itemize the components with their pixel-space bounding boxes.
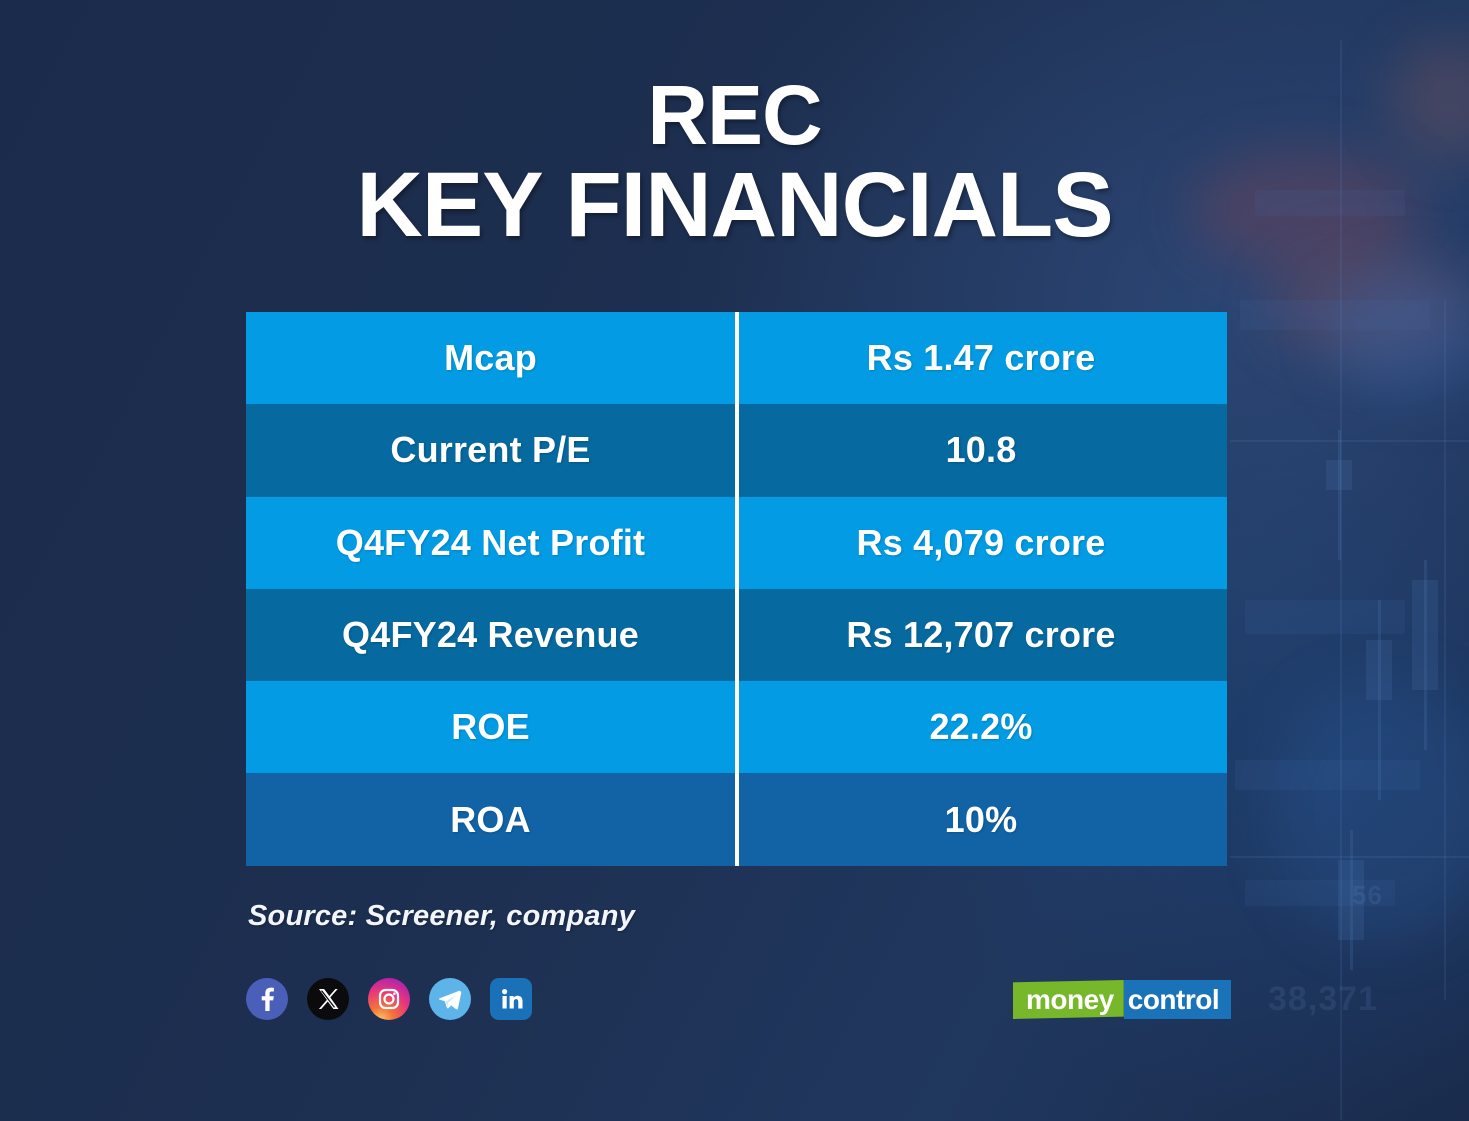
background-candle-wick-3 <box>1378 600 1381 800</box>
metric-label: Q4FY24 Net Profit <box>246 497 735 589</box>
metric-value: Rs 4,079 crore <box>735 497 1227 589</box>
background-gridline-h-1 <box>1230 440 1469 442</box>
source-note: Source: Screener, company <box>248 900 635 933</box>
logo-money-text: money <box>1013 980 1124 1019</box>
financials-table: Mcap Rs 1.47 crore Current P/E 10.8 Q4FY… <box>246 312 1227 866</box>
x-twitter-icon[interactable] <box>307 978 349 1020</box>
table-column-divider <box>735 312 739 866</box>
social-links <box>246 978 532 1020</box>
background-block-2 <box>1240 300 1430 330</box>
background-ghost-number-2: 56 <box>1352 880 1383 911</box>
metric-label: Current P/E <box>246 404 735 496</box>
metric-value: Rs 12,707 crore <box>735 589 1227 681</box>
telegram-icon[interactable] <box>429 978 471 1020</box>
linkedin-icon[interactable] <box>490 978 532 1020</box>
metric-value: 10.8 <box>735 404 1227 496</box>
background-candle-body-3 <box>1366 640 1392 700</box>
title-line-company: REC <box>0 74 1469 156</box>
background-candle-body-1 <box>1326 460 1352 490</box>
metric-label: Mcap <box>246 312 735 404</box>
metric-label: ROE <box>246 681 735 773</box>
logo-control-text: control <box>1124 980 1231 1019</box>
metric-label: Q4FY24 Revenue <box>246 589 735 681</box>
background-gridline-v-2 <box>1444 300 1446 1000</box>
background-candle-wick-1 <box>1338 430 1341 560</box>
facebook-icon[interactable] <box>246 978 288 1020</box>
background-block-4 <box>1235 760 1420 790</box>
metric-label: ROA <box>246 773 735 865</box>
metric-value: Rs 1.47 crore <box>735 312 1227 404</box>
page-title: REC KEY FINANCIALS <box>0 74 1469 250</box>
background-candle-body-2 <box>1412 580 1438 690</box>
background-ghost-number-1: 38,371 <box>1268 980 1378 1019</box>
title-line-subject: KEY FINANCIALS <box>0 160 1469 250</box>
background-block-3 <box>1245 600 1405 634</box>
moneycontrol-logo: money control <box>1013 980 1231 1019</box>
instagram-icon[interactable] <box>368 978 410 1020</box>
infographic-canvas: 38,371 56 REC KEY FINANCIALS Mcap Rs 1.4… <box>0 0 1469 1121</box>
metric-value: 22.2% <box>735 681 1227 773</box>
metric-value: 10% <box>735 773 1227 865</box>
